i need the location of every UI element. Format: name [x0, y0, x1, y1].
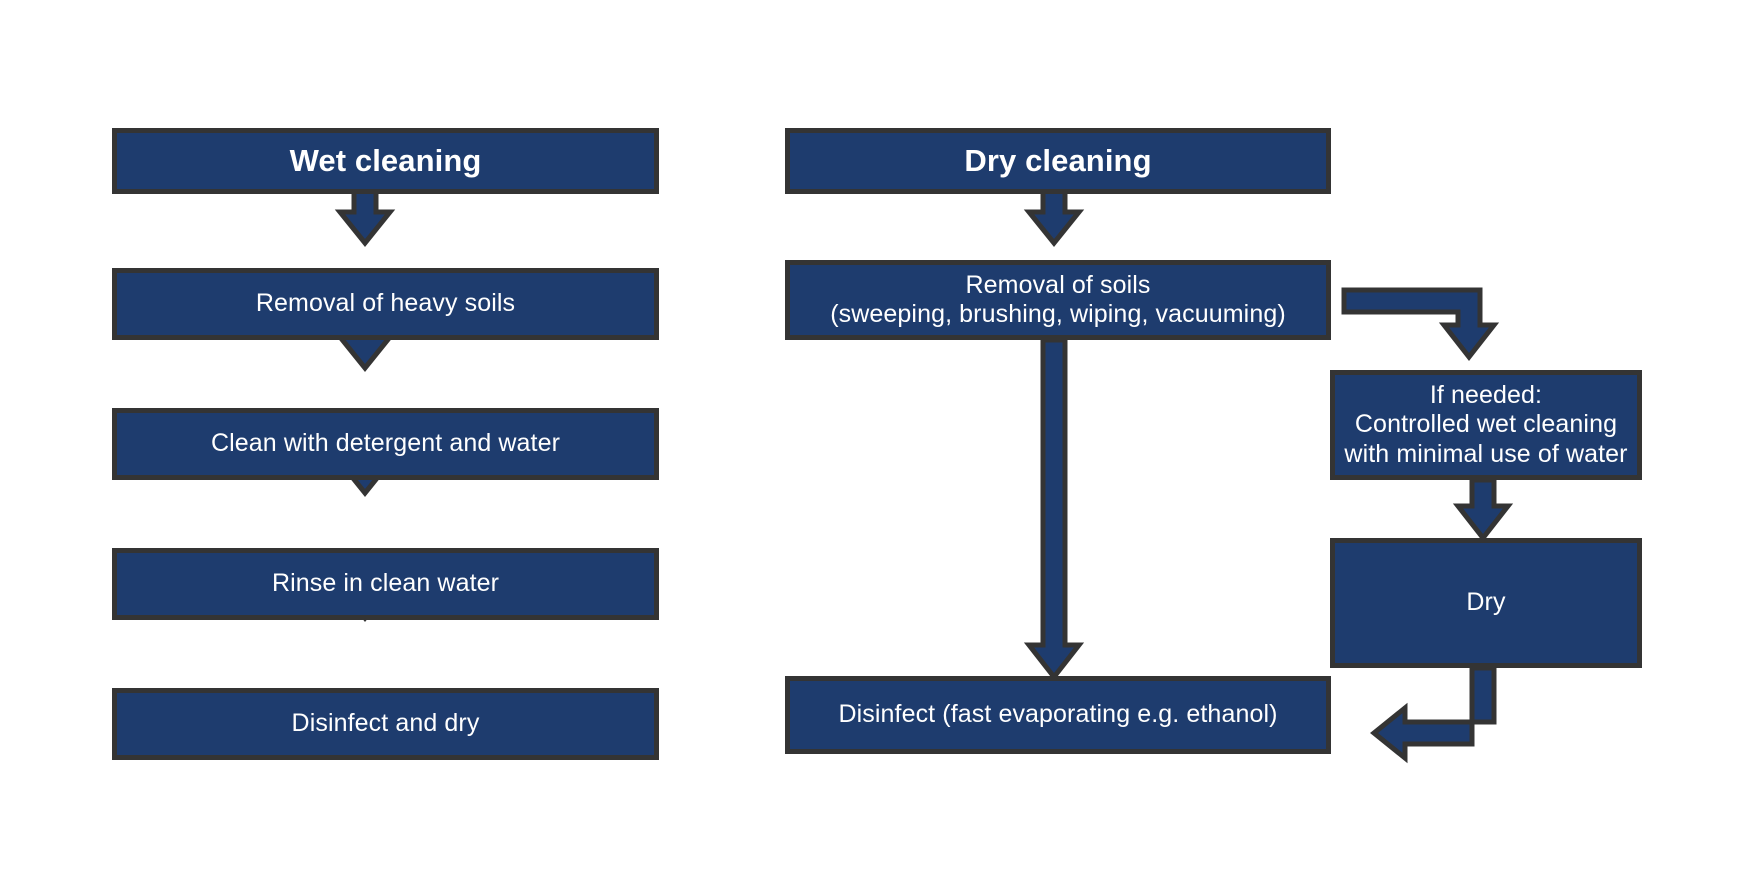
- branch-dry: Dry: [1330, 538, 1642, 668]
- connector-if-needed-to-dry: [1458, 480, 1508, 538]
- dry-step-removal-of-soils: Removal of soils (sweeping, brushing, wi…: [785, 260, 1331, 340]
- dry-step-1-label: Removal of soils (sweeping, brushing, wi…: [830, 271, 1286, 330]
- branch-if-needed-controlled-wet-cleaning: If needed: Controlled wet cleaning with …: [1330, 370, 1642, 480]
- connector-dry-back-to-disinfect: [1374, 668, 1494, 758]
- wet-cleaning-header: Wet cleaning: [112, 128, 659, 194]
- wet-step-removal-of-heavy-soils: Removal of heavy soils: [112, 268, 659, 340]
- connector-dry-step1-to-step2: [1029, 340, 1079, 677]
- wet-step-clean-with-detergent-and-water: Clean with detergent and water: [112, 408, 659, 480]
- wet-step-1-label: Removal of heavy soils: [256, 289, 515, 319]
- wet-step-disinfect-and-dry: Disinfect and dry: [112, 688, 659, 760]
- dry-step-disinfect-fast-evaporating: Disinfect (fast evaporating e.g. ethanol…: [785, 676, 1331, 754]
- wet-step-2-label: Clean with detergent and water: [211, 429, 560, 459]
- dry-cleaning-header-label: Dry cleaning: [964, 143, 1151, 180]
- dry-cleaning-header: Dry cleaning: [785, 128, 1331, 194]
- wet-step-3-label: Rinse in clean water: [272, 569, 499, 599]
- dry-step-2-label: Disinfect (fast evaporating e.g. ethanol…: [838, 700, 1277, 730]
- branch-if-needed-label: If needed: Controlled wet cleaning with …: [1344, 381, 1627, 470]
- wet-step-rinse-in-clean-water: Rinse in clean water: [112, 548, 659, 620]
- wet-cleaning-header-label: Wet cleaning: [290, 143, 482, 180]
- flowchart-canvas: Wet cleaning Removal of heavy soils Clea…: [0, 0, 1754, 886]
- wet-step-4-label: Disinfect and dry: [292, 709, 480, 739]
- branch-dry-label: Dry: [1466, 588, 1505, 618]
- connector-dry-step1-to-if-needed: [1344, 290, 1494, 357]
